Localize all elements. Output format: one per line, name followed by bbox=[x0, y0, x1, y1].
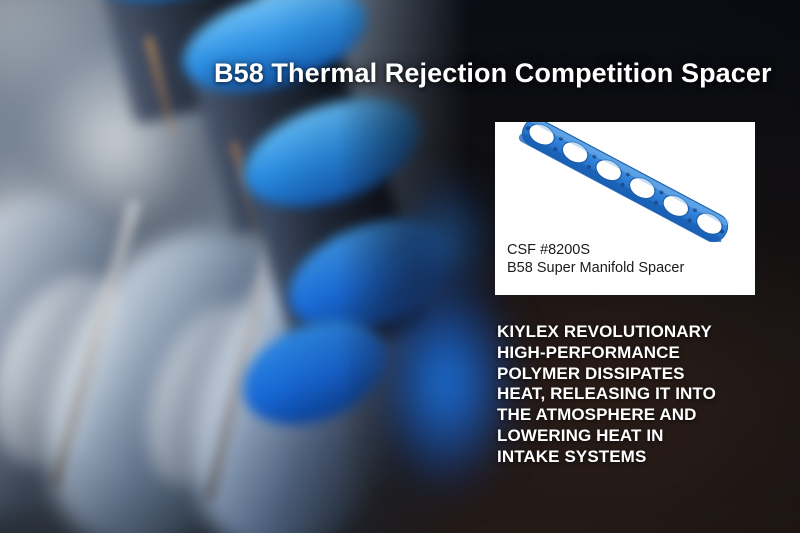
copy-line-6: LOWERING HEAT IN bbox=[497, 426, 727, 447]
page-title: B58 Thermal Rejection Competition Spacer bbox=[214, 58, 772, 89]
marketing-copy: KIYLEX REVOLUTIONARY HIGH-PERFORMANCE PO… bbox=[497, 322, 727, 468]
copy-line-5: THE ATMOSPHERE AND bbox=[497, 405, 727, 426]
copy-line-7: INTAKE SYSTEMS bbox=[497, 447, 727, 468]
product-card: CSF #8200S B58 Super Manifold Spacer bbox=[495, 122, 755, 295]
copy-line-1: KIYLEX REVOLUTIONARY bbox=[497, 322, 727, 343]
product-sku: CSF #8200S bbox=[507, 241, 747, 259]
promo-banner: B58 Thermal Rejection Competition Spacer bbox=[0, 0, 800, 533]
copy-line-3: POLYMER DISSIPATES bbox=[497, 364, 727, 385]
product-title: B58 Super Manifold Spacer bbox=[507, 259, 747, 277]
product-image bbox=[495, 122, 755, 242]
copy-line-4: HEAT, RELEASING IT INTO bbox=[497, 384, 727, 405]
product-caption: CSF #8200S B58 Super Manifold Spacer bbox=[507, 241, 747, 277]
copy-line-2: HIGH-PERFORMANCE bbox=[497, 343, 727, 364]
manifold-spacer-illustration bbox=[495, 122, 755, 242]
